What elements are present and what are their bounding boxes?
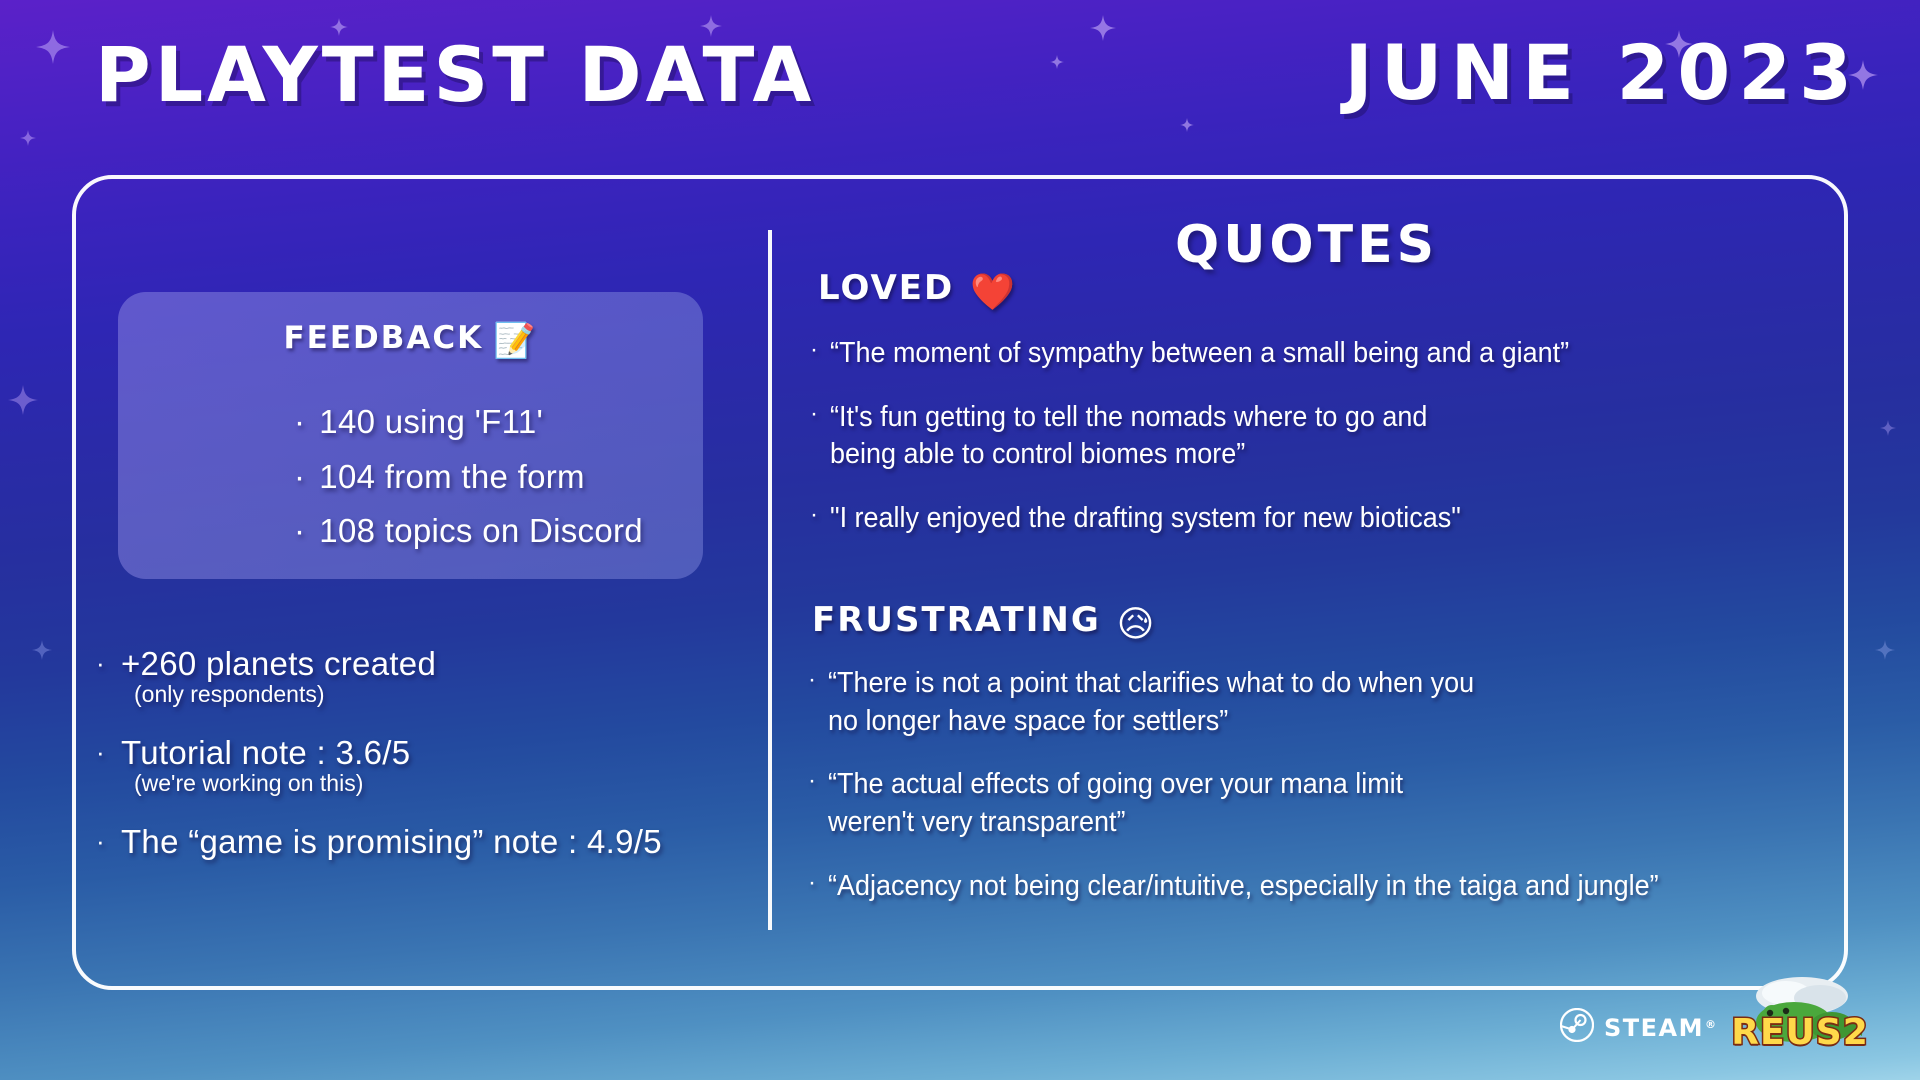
page-date: JUNE 2023 (1345, 28, 1861, 117)
frustrating-heading-label: FRUSTRATING (812, 600, 1101, 640)
loved-quote-list: ·“The moment of sympathy between a small… (810, 335, 1870, 564)
loved-heading: LOVED❤️ (818, 268, 1017, 313)
quote-text: “It's fun getting to tell the nomads whe… (830, 399, 1427, 474)
quote-text: “The moment of sympathy between a small … (830, 335, 1569, 373)
quotes-title: QUOTES (1175, 215, 1438, 275)
sparkle-icon (32, 640, 52, 660)
list-item: ·104 from the form (294, 455, 643, 500)
steam-label-text: STEAM (1604, 1014, 1704, 1042)
stat-main: ·The “game is promising” note : 4.9/5 (96, 823, 776, 861)
feedback-item-label: 104 from the form (319, 458, 585, 495)
list-item: ·“It's fun getting to tell the nomads wh… (810, 399, 1870, 474)
page-title: PLAYTEST DATA (95, 30, 815, 119)
stat-main-label: +260 planets created (121, 645, 436, 682)
list-item: ·“Adjacency not being clear/intuitive, e… (808, 868, 1878, 906)
heart-icon: ❤️ (970, 272, 1017, 313)
steam-label: STEAM® (1604, 1014, 1718, 1042)
reus2-logo-text: REUS2 (1720, 1012, 1880, 1053)
list-item: ·“The moment of sympathy between a small… (810, 335, 1870, 373)
steam-icon (1560, 1008, 1594, 1047)
stat-sub-label: (only respondents) (134, 681, 776, 708)
steam-logo: STEAM® (1560, 1008, 1718, 1047)
worried-face-icon: 😥 (1117, 604, 1157, 645)
feedback-title: FEEDBACK📝 (118, 320, 703, 361)
sparkle-icon (1880, 420, 1896, 436)
bullet-icon: · (294, 403, 305, 440)
feedback-item-label: 140 using 'F11' (319, 403, 543, 440)
list-item: ·“The actual effects of going over your … (808, 766, 1878, 841)
stat-main-label: Tutorial note : 3.6/5 (121, 734, 410, 771)
quote-text: “Adjacency not being clear/intuitive, es… (828, 868, 1659, 906)
sparkle-icon (8, 385, 38, 415)
sparkle-icon (1875, 640, 1895, 660)
bullet-icon: · (808, 766, 816, 841)
stats-list: ·+260 planets created (only respondents)… (96, 645, 776, 885)
header: PLAYTEST DATA JUNE 2023 (0, 0, 1920, 170)
quote-text: "I really enjoyed the drafting system fo… (830, 500, 1461, 538)
feedback-title-label: FEEDBACK (284, 320, 484, 356)
reus2-logo: REUS2 (1720, 970, 1880, 1065)
list-item: ·140 using 'F11' (294, 400, 643, 445)
bullet-icon: · (96, 737, 105, 767)
quote-text: “The actual effects of going over your m… (828, 766, 1403, 841)
list-item: ·“There is not a point that clarifies wh… (808, 665, 1878, 740)
bullet-icon: · (808, 868, 816, 906)
list-item: ·The “game is promising” note : 4.9/5 (96, 823, 776, 861)
bullet-icon: · (810, 335, 818, 373)
list-item: ·Tutorial note : 3.6/5 (we're working on… (96, 734, 776, 797)
reus-word: REUS (1731, 1012, 1842, 1053)
loved-heading-label: LOVED (818, 268, 954, 308)
list-item: ·108 topics on Discord (294, 509, 643, 554)
stat-main: ·Tutorial note : 3.6/5 (96, 734, 776, 772)
bullet-icon: · (96, 648, 105, 678)
bullet-icon: · (96, 826, 105, 856)
infographic-canvas: PLAYTEST DATA JUNE 2023 FEEDBACK📝 ·140 u… (0, 0, 1920, 1080)
list-item: ·"I really enjoyed the drafting system f… (810, 500, 1870, 538)
reus-number: 2 (1843, 1012, 1869, 1053)
stat-sub-label: (we're working on this) (134, 770, 776, 797)
bullet-icon: · (808, 665, 816, 740)
memo-icon: 📝 (493, 321, 537, 361)
stat-main: ·+260 planets created (96, 645, 776, 683)
registered-icon: ® (1705, 1018, 1718, 1031)
feedback-item-label: 108 topics on Discord (319, 512, 643, 549)
quote-text: “There is not a point that clarifies wha… (828, 665, 1474, 740)
feedback-card: FEEDBACK📝 ·140 using 'F11' ·104 from the… (118, 292, 703, 579)
stat-main-label: The “game is promising” note : 4.9/5 (121, 823, 662, 860)
frustrating-heading: FRUSTRATING😥 (812, 600, 1156, 645)
bullet-icon: · (294, 512, 305, 549)
frustrating-quote-list: ·“There is not a point that clarifies wh… (808, 665, 1878, 931)
list-item: ·+260 planets created (only respondents) (96, 645, 776, 708)
bullet-icon: · (810, 500, 818, 538)
bullet-icon: · (810, 399, 818, 474)
feedback-list: ·140 using 'F11' ·104 from the form ·108… (254, 400, 643, 564)
bullet-icon: · (294, 458, 305, 495)
vertical-divider (768, 230, 772, 930)
